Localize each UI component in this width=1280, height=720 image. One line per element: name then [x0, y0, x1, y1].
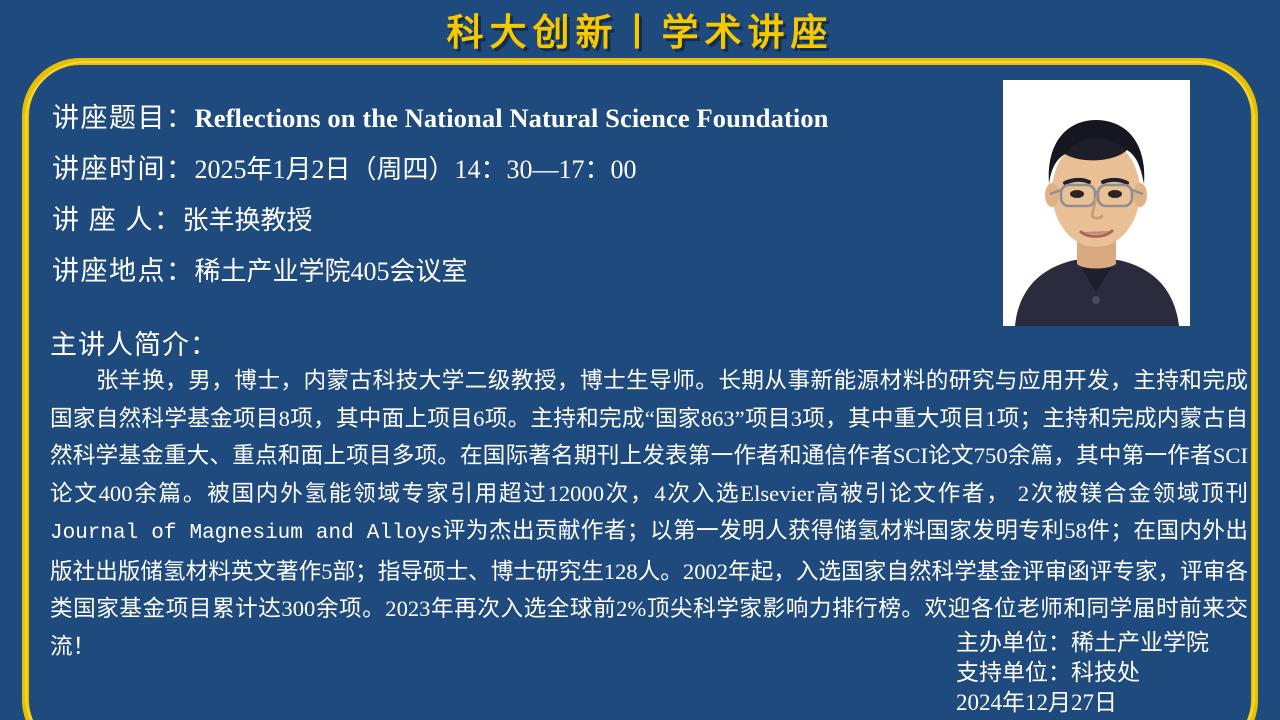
- speaker-portrait-illustration: [1003, 80, 1190, 326]
- signature-date: 2024年12月27日: [956, 688, 1209, 718]
- poster-banner: 科大创新丨学术讲座: [0, 0, 1280, 58]
- speaker-photo: [1003, 80, 1190, 326]
- bio-heading: 主讲人简介：: [50, 323, 218, 362]
- lecture-info-block: 讲座题目： Reflections on the National Natura…: [52, 96, 997, 300]
- info-value-topic: Reflections on the National Natural Scie…: [195, 103, 829, 134]
- info-row-location: 讲座地点： 稀土产业学院405会议室: [52, 249, 997, 300]
- info-value-speaker: 张羊换教授: [183, 200, 313, 237]
- banner-title: 科大创新丨学术讲座: [447, 2, 834, 56]
- bio-text-part1: 张羊换，男，博士，内蒙古科技大学二级教授，博士生导师。长期从事新能源材料的研究与…: [50, 368, 1248, 506]
- signature-supporter: 支持单位：科技处: [956, 658, 1209, 688]
- info-row-speaker: 讲 座 人： 张羊换教授: [52, 198, 997, 249]
- info-row-time: 讲座时间： 2025年1月2日（周四）14：30—17：00: [52, 147, 997, 198]
- info-value-location: 稀土产业学院405会议室: [195, 251, 468, 288]
- info-label-speaker: 讲 座 人：: [52, 198, 183, 237]
- info-row-topic: 讲座题目： Reflections on the National Natura…: [52, 96, 997, 147]
- info-label-time: 讲座时间：: [52, 147, 195, 186]
- info-label-location: 讲座地点：: [52, 249, 195, 288]
- signature-organizer: 主办单位：稀土产业学院: [956, 628, 1209, 658]
- signature-block: 主办单位：稀土产业学院 支持单位：科技处 2024年12月27日: [956, 628, 1209, 718]
- info-label-topic: 讲座题目：: [52, 96, 195, 135]
- bio-journal-name: Journal of Magnesium and Alloys: [50, 522, 442, 545]
- lecture-poster: 科大创新丨学术讲座: [0, 0, 1280, 720]
- bio-body: 张羊换，男，博士，内蒙古科技大学二级教授，博士生导师。长期从事新能源材料的研究与…: [50, 362, 1248, 665]
- info-value-time: 2025年1月2日（周四）14：30—17：00: [195, 149, 637, 186]
